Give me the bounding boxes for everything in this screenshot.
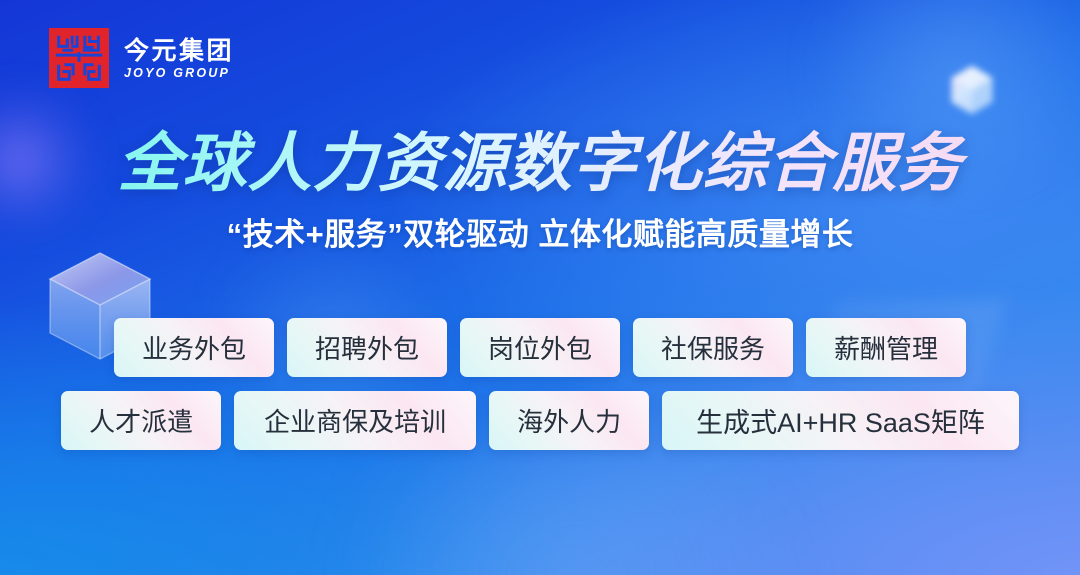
brand-wordmark: 今元集团 JOYO GROUP [124,35,234,82]
service-tag-row-1: 业务外包 招聘外包 岗位外包 社保服务 薪酬管理 [114,318,966,377]
service-tag[interactable]: 岗位外包 [460,318,620,377]
service-tag[interactable]: 业务外包 [114,318,274,377]
service-tag[interactable]: 薪酬管理 [806,318,966,377]
hero-subheadline: “技术+服务”双轮驱动 立体化赋能高质量增长 [0,216,1080,255]
service-tag[interactable]: 人才派遣 [61,391,221,450]
service-tag[interactable]: 生成式AI+HR SaaS矩阵 [662,391,1019,450]
service-tag[interactable]: 社保服务 [633,318,793,377]
service-tag[interactable]: 招聘外包 [287,318,447,377]
joyo-seal-logo-icon [48,27,110,89]
promo-banner: 今元集团 JOYO GROUP 全球人力资源数字化综合服务 “技术+服务”双轮驱… [0,0,1080,575]
brand-name-cn: 今元集团 [124,37,234,65]
service-tag-row-2: 人才派遣 企业商保及培训 海外人力 生成式AI+HR SaaS矩阵 [61,391,1019,450]
glow-bottom-center [260,435,880,575]
brand-name-en: JOYO GROUP [124,65,234,82]
service-tag[interactable]: 海外人力 [489,391,649,450]
service-tag-groups: 业务外包 招聘外包 岗位外包 社保服务 薪酬管理 人才派遣 企业商保及培训 海外… [0,318,1080,450]
brand-logo[interactable]: 今元集团 JOYO GROUP [48,27,234,89]
hero-headline: 全球人力资源数字化综合服务 [0,128,1080,200]
crystal-hexagon-icon [944,62,1000,118]
service-tag[interactable]: 企业商保及培训 [234,391,476,450]
